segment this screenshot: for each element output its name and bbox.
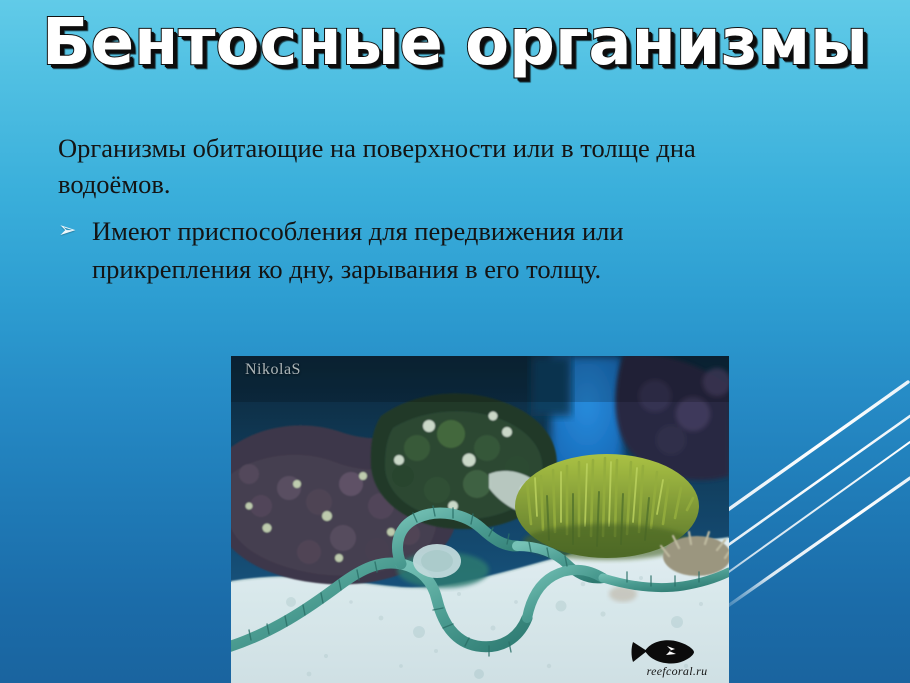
benthos-photo: NikolaS reefcoral.ru — [231, 356, 729, 683]
photo-watermark-top: NikolaS — [245, 361, 301, 379]
photo-watermark-url: reefcoral.ru — [631, 664, 723, 679]
arrow-bullet-icon: ➢ — [58, 212, 92, 246]
page-title: Бентосные организмы — [42, 2, 868, 84]
body-content: Организмы обитающие на поверхности или в… — [58, 130, 738, 288]
title-container: Бентосные организмы — [0, 2, 910, 84]
list-item-label: Имеют приспособления для передвижения ил… — [92, 212, 738, 288]
fish-icon — [631, 638, 695, 666]
intro-paragraph: Организмы обитающие на поверхности или в… — [58, 130, 738, 202]
list-item: ➢ Имеют приспособления для передвижения … — [58, 212, 738, 288]
photo-watermark-bottom: reefcoral.ru — [631, 638, 723, 679]
presentation-slide: Бентосные организмы Организмы обитающие … — [0, 0, 910, 683]
